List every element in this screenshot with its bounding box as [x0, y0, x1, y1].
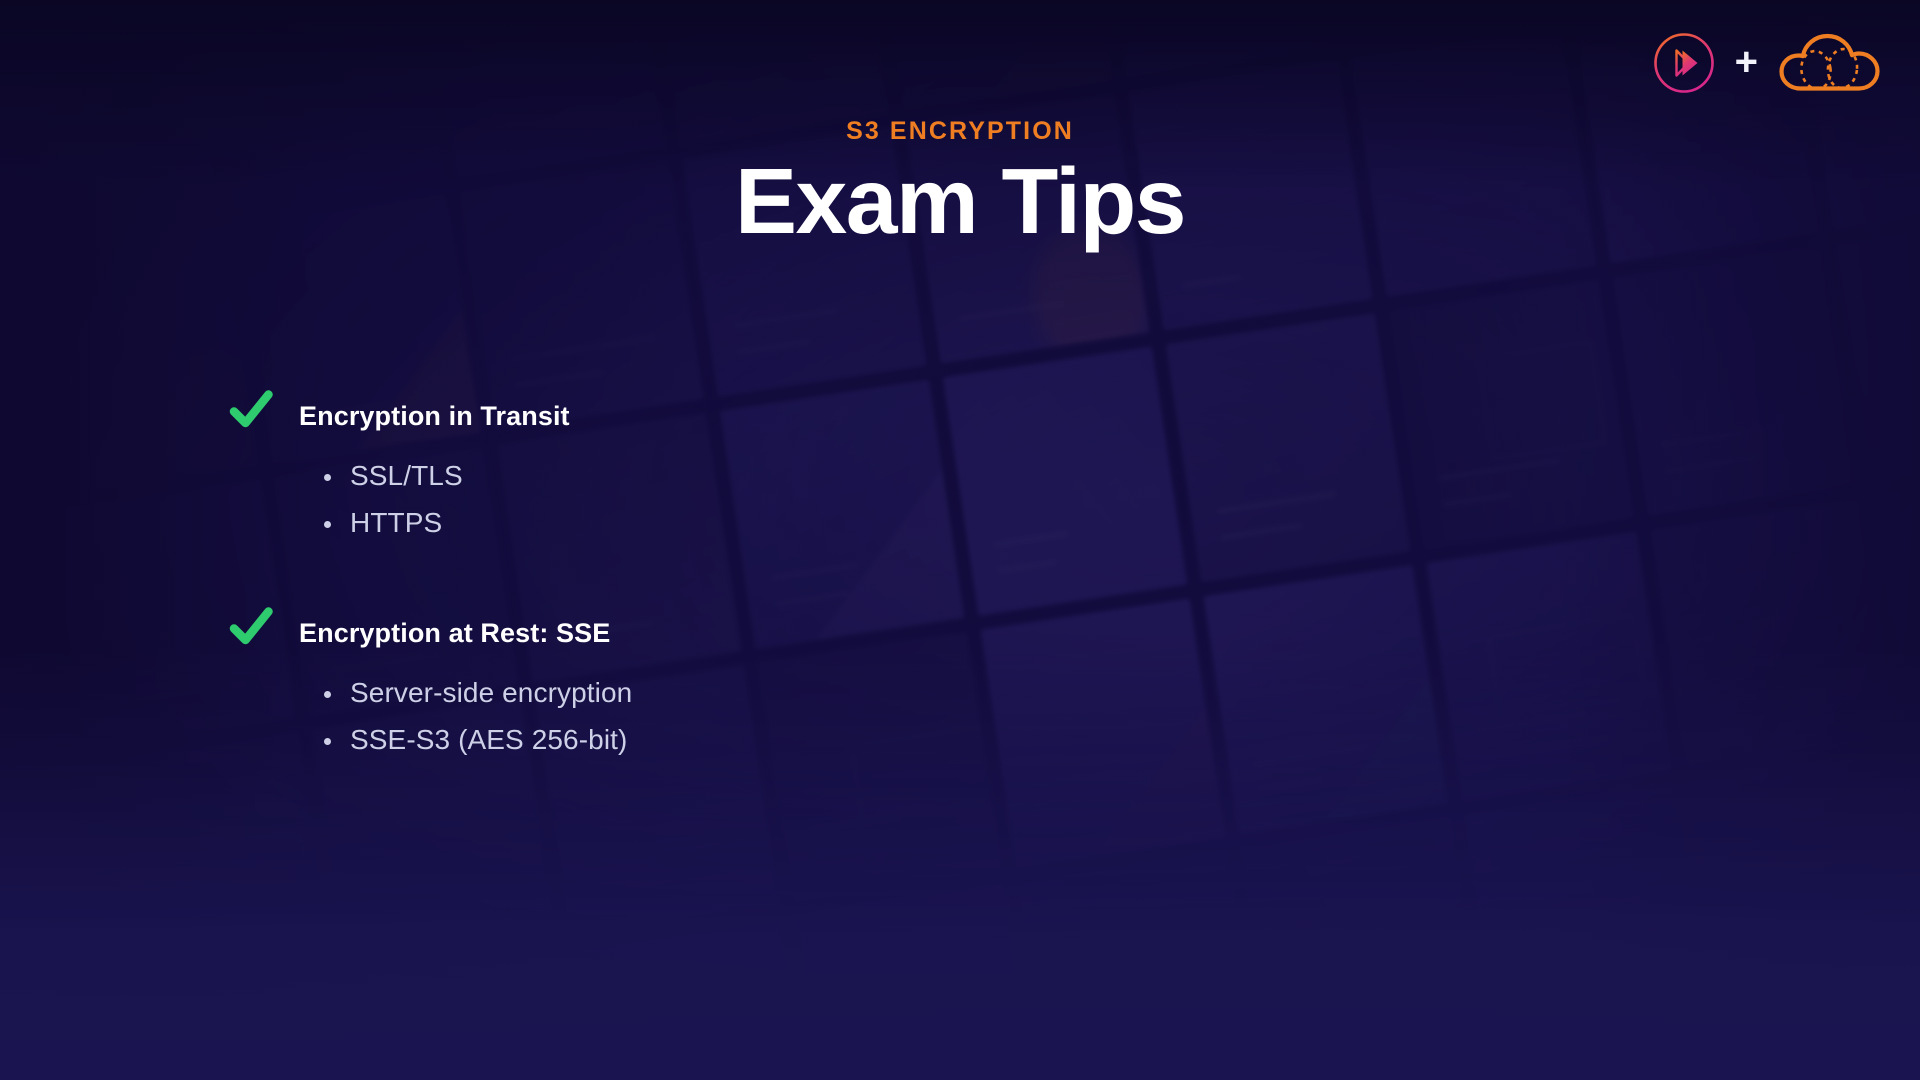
tip-title: Encryption in Transit — [299, 392, 570, 436]
green-check-icon — [228, 386, 274, 432]
heading-block: S3 ENCRYPTION Exam Tips — [0, 118, 1920, 250]
green-check-icon — [228, 603, 274, 649]
slide-content: + S3 ENCRYPTION Exam Tips Encryption in … — [0, 0, 1920, 1080]
tip-header: Encryption in Transit — [228, 392, 1048, 436]
plus-separator-icon: + — [1735, 42, 1758, 82]
page-title: Exam Tips — [0, 152, 1920, 251]
list-item: Server-side encryption — [324, 670, 1048, 716]
logo-bar: + — [1653, 30, 1882, 96]
cloud-outline-logo — [1778, 30, 1882, 96]
tip-title: Encryption at Rest: SSE — [299, 609, 610, 653]
eyebrow-label: S3 ENCRYPTION — [0, 118, 1920, 146]
list-item: SSE-S3 (AES 256-bit) — [324, 717, 1048, 763]
tip-header: Encryption at Rest: SSE — [228, 609, 1048, 653]
tip-block: Encryption in Transit SSL/TLS HTTPS — [228, 392, 1048, 546]
tip-bullet-list: Server-side encryption SSE-S3 (AES 256-b… — [228, 670, 1048, 763]
list-item: SSL/TLS — [324, 453, 1048, 499]
slide-root: + S3 ENCRYPTION Exam Tips Encryption in … — [0, 0, 1920, 1080]
list-item: HTTPS — [324, 500, 1048, 546]
tip-bullet-list: SSL/TLS HTTPS — [228, 453, 1048, 546]
tip-block: Encryption at Rest: SSE Server-side encr… — [228, 609, 1048, 763]
acloudguru-play-logo — [1653, 32, 1715, 94]
tips-list: Encryption in Transit SSL/TLS HTTPS Encr… — [228, 392, 1048, 763]
